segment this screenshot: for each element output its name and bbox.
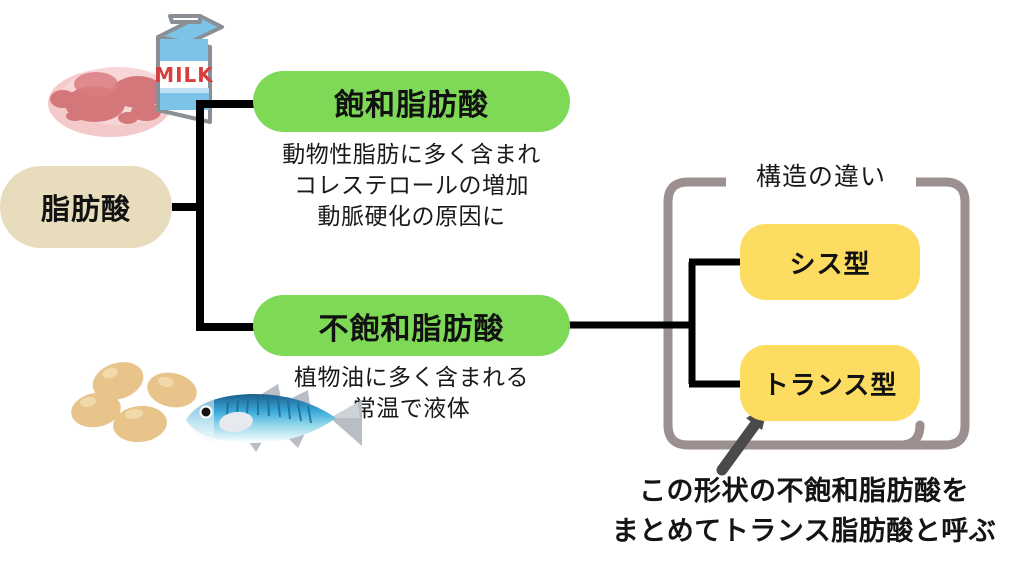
structure-panel-label: 構造の違い: [726, 157, 916, 193]
trans-fat-caption: この形状の不飽和脂肪酸を まとめてトランス脂肪酸と呼ぶ: [604, 472, 1004, 552]
node-cis-type[interactable]: シス型: [740, 224, 920, 300]
trans-fat-caption-line-2: まとめてトランス脂肪酸と呼ぶ: [604, 512, 1004, 552]
node-trans-type-label: トランス型: [763, 365, 897, 402]
node-saturated-fatty-acid-label: 飽和脂肪酸: [334, 80, 489, 124]
node-saturated-fatty-acid[interactable]: 飽和脂肪酸: [253, 71, 570, 132]
diagram-canvas: MILK: [0, 0, 1024, 576]
node-unsaturated-fatty-acid-label: 不飽和脂肪酸: [319, 304, 505, 348]
node-fatty-acid-label: 脂肪酸: [41, 186, 131, 228]
trans-fat-caption-line-1: この形状の不飽和脂肪酸を: [604, 472, 1004, 512]
node-cis-type-label: シス型: [789, 244, 870, 281]
node-trans-type[interactable]: トランス型: [740, 345, 920, 421]
node-fatty-acid[interactable]: 脂肪酸: [0, 166, 172, 248]
node-unsaturated-fatty-acid[interactable]: 不飽和脂肪酸: [253, 295, 570, 356]
